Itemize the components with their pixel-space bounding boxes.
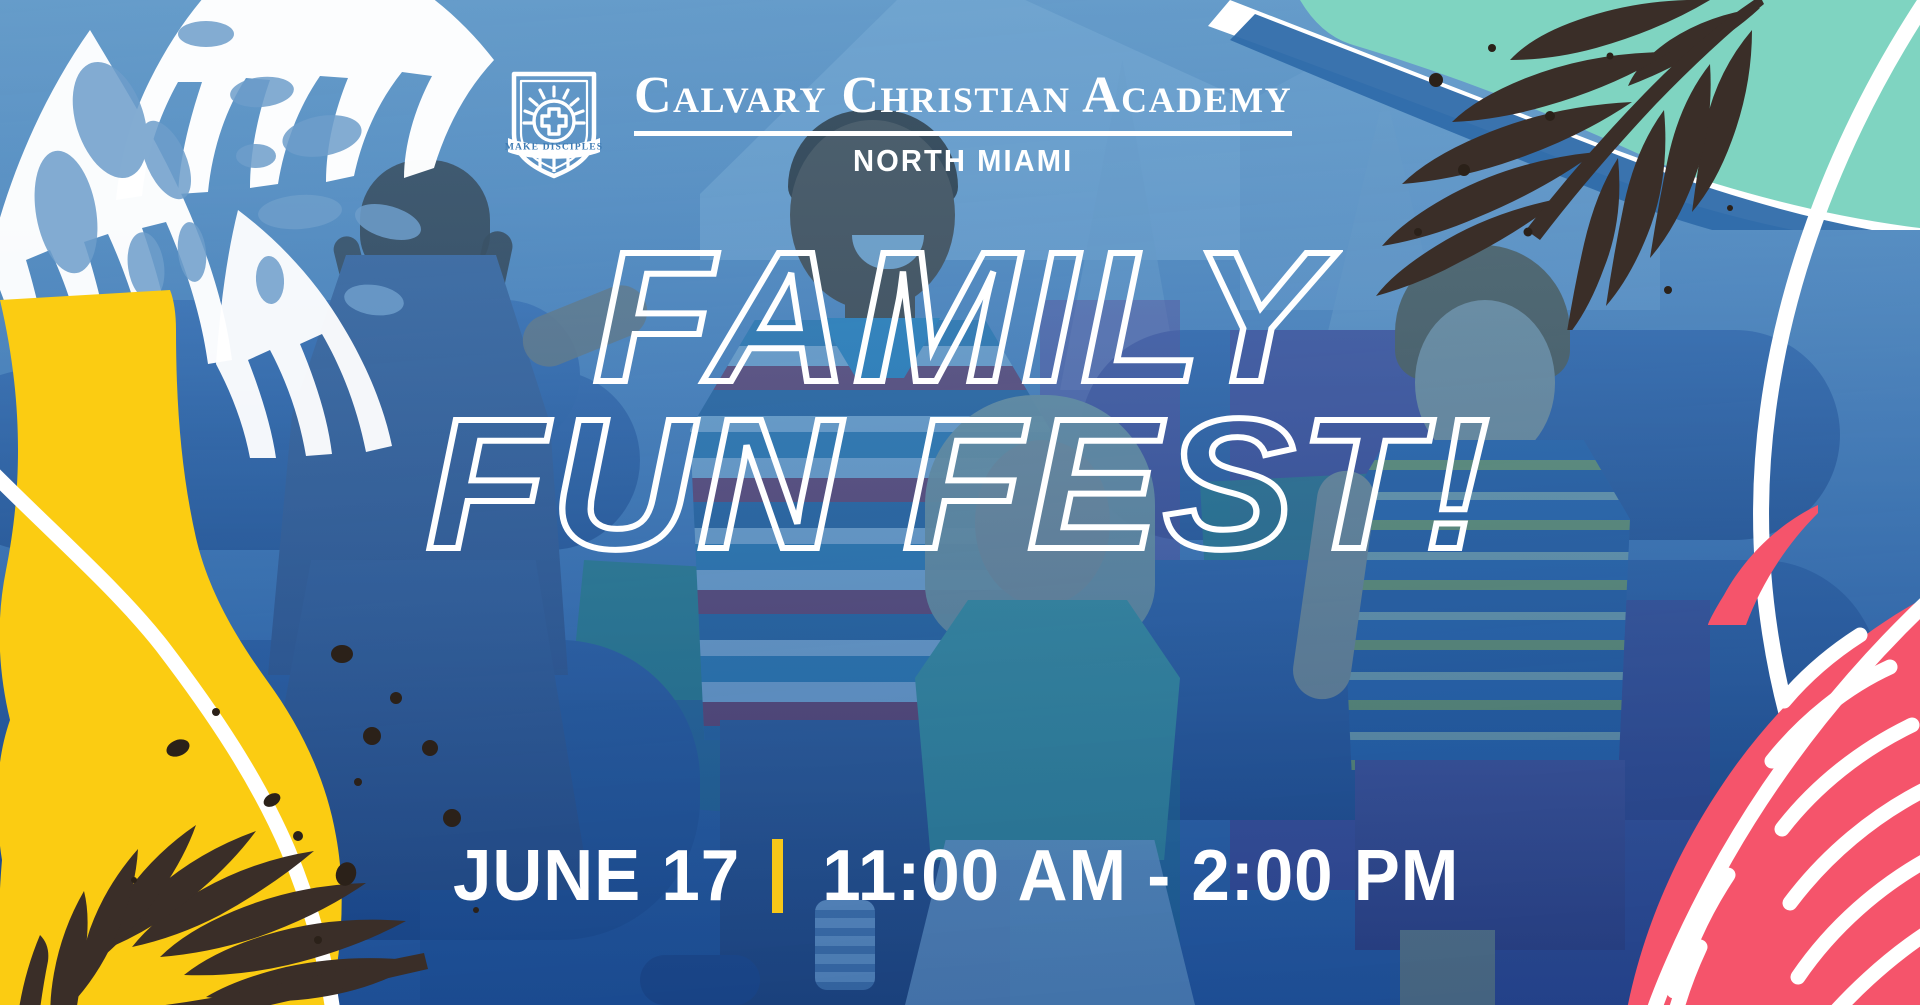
event-date: JUNE 17 <box>453 835 740 917</box>
event-title: FAMILY FUN FEST! <box>0 232 1920 572</box>
shield-motto-text: MAKE DISCIPLES <box>505 142 603 153</box>
event-poster: MAKE DISCIPLES Calvary Christian Academy… <box>0 0 1920 1005</box>
school-name: Calvary Christian Academy <box>634 70 1292 122</box>
event-title-line-2: FUN FEST! <box>0 399 1920 572</box>
school-logo-lockup: MAKE DISCIPLES Calvary Christian Academy… <box>500 68 1292 180</box>
detail-divider <box>772 839 783 913</box>
logo-divider-rule <box>634 131 1292 136</box>
event-details-bar: JUNE 17 11:00 AM - 2:00 PM <box>0 835 1920 917</box>
calvary-shield-cross-logo: MAKE DISCIPLES <box>500 68 608 180</box>
event-time: 11:00 AM - 2:00 PM <box>823 835 1460 917</box>
event-title-line-1: FAMILY <box>0 232 1920 405</box>
school-campus: NORTH MIAMI <box>853 143 1073 179</box>
